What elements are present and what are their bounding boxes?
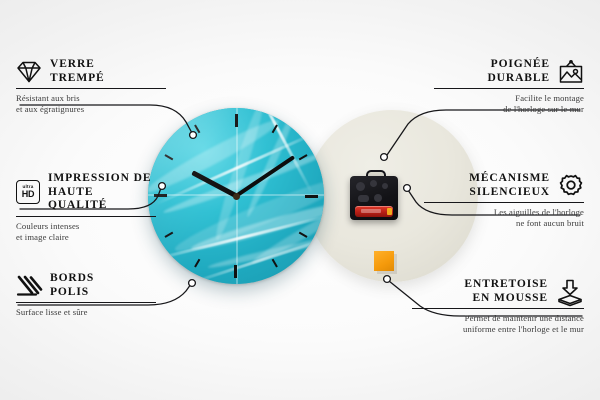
clock-face	[148, 108, 324, 284]
gear-icon	[558, 174, 584, 198]
feature-impression-hd[interactable]: ultra HD IMPRESSION DE HAUTE QUALITÉ Cou…	[16, 172, 156, 243]
clock-hands-hub	[233, 193, 240, 200]
clock-tick	[235, 114, 237, 196]
clock-tick-bar	[235, 114, 238, 127]
feature-description: Les aiguilles de l'horloge ne font aucun…	[424, 207, 584, 229]
feature-description: Facilite le montage de l'horloge sur le …	[434, 93, 584, 115]
feature-header: BORDS POLIS	[16, 272, 156, 299]
feature-underline	[16, 88, 166, 89]
feature-description: Permet de maintenir une distance uniform…	[412, 313, 584, 335]
diamond-icon	[16, 60, 42, 84]
feature-description: Surface lisse et sûre	[16, 307, 156, 318]
hanging-frame-icon	[558, 60, 584, 84]
battery	[355, 206, 393, 217]
feature-title: VERRE TREMPÉ	[50, 58, 105, 85]
feature-title: IMPRESSION DE HAUTE QUALITÉ	[48, 172, 156, 213]
feature-mecanisme-silencieux[interactable]: MÉCANISME SILENCIEUX Les aiguilles de l'…	[424, 172, 584, 229]
feature-title: BORDS POLIS	[50, 272, 94, 299]
feature-underline	[412, 308, 584, 309]
mechanism-detail	[370, 180, 377, 187]
clock-tick	[154, 195, 236, 197]
clock-tick-bar	[305, 195, 318, 198]
feature-title: POIGNÉE DURABLE	[487, 58, 550, 85]
feature-entretoise-mousse[interactable]: ENTRETOISE EN MOUSSE Permet de maintenir…	[412, 278, 584, 335]
feature-header: MÉCANISME SILENCIEUX	[424, 172, 584, 199]
feature-header: ultra HD IMPRESSION DE HAUTE QUALITÉ	[16, 172, 156, 213]
feature-header: VERRE TREMPÉ	[16, 58, 166, 85]
mechanism-body	[350, 176, 398, 220]
feature-header: ENTRETOISE EN MOUSSE	[412, 278, 584, 305]
clock-tick	[236, 195, 318, 197]
feature-bords-polis[interactable]: BORDS POLIS Surface lisse et sûre	[16, 272, 156, 318]
feature-verre-trempe[interactable]: VERRE TREMPÉ Résistant aux bris et aux é…	[16, 58, 166, 115]
feature-poignee-durable[interactable]: POIGNÉE DURABLE Facilite le montage de l…	[434, 58, 584, 115]
clock-mechanism	[350, 176, 398, 220]
feature-title: ENTRETOISE EN MOUSSE	[464, 278, 548, 305]
mechanism-detail	[358, 195, 369, 202]
mechanism-detail	[374, 194, 382, 202]
feature-underline	[16, 216, 156, 217]
battery-label	[361, 209, 381, 213]
infographic-canvas: VERRE TREMPÉ Résistant aux bris et aux é…	[0, 0, 600, 400]
feature-header: POIGNÉE DURABLE	[434, 58, 584, 85]
feature-underline	[16, 302, 156, 303]
clock-tick-bar	[235, 265, 238, 278]
ultra-hd-icon: ultra HD	[16, 180, 40, 204]
feature-underline	[434, 88, 584, 89]
mechanism-detail	[382, 183, 388, 189]
feature-title: MÉCANISME SILENCIEUX	[469, 172, 550, 199]
battery-terminal	[387, 208, 392, 215]
foam-spacer	[374, 251, 394, 271]
foam-spacer-icon	[556, 279, 584, 305]
feature-description: Résistant aux bris et aux égratignures	[16, 93, 166, 115]
clock-tick	[235, 196, 237, 278]
feature-underline	[424, 202, 584, 203]
mechanism-detail	[356, 182, 365, 191]
feature-description: Couleurs intenses et image claire	[16, 221, 156, 243]
polished-edges-icon	[16, 274, 42, 298]
